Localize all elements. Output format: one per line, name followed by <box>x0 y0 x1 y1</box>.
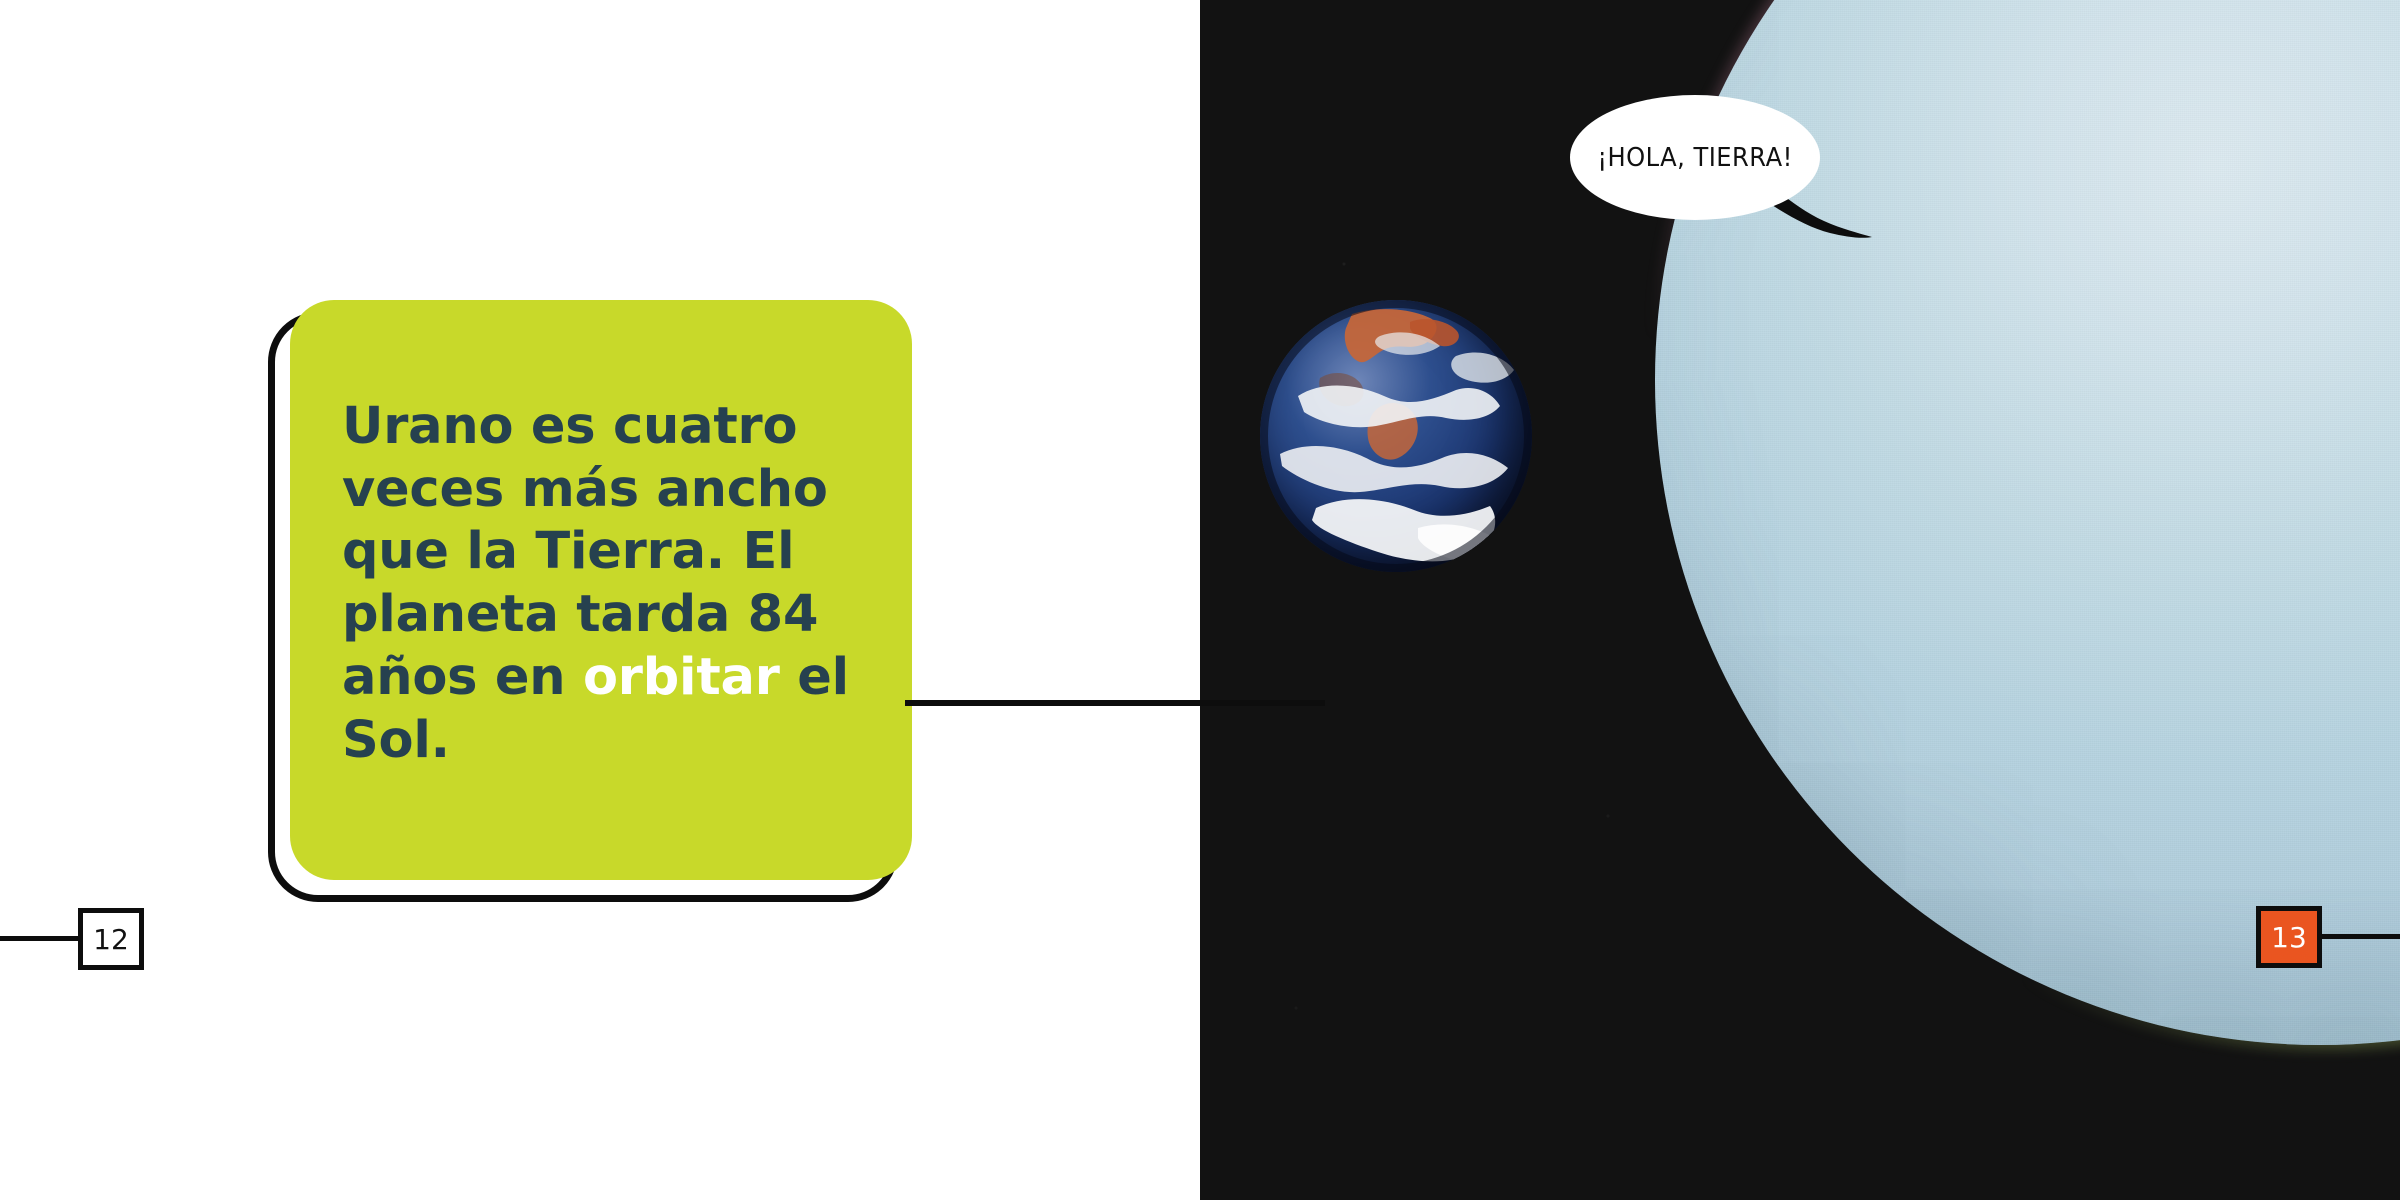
speech-bubble-text: ¡HOLA, TIERRA! <box>1597 143 1792 173</box>
right-page: ¡HOLA, TIERRA! <box>1200 0 2400 1200</box>
page-number-rule-right <box>2320 934 2400 939</box>
callout-box: Urano es cuatro veces más ancho que la T… <box>268 300 918 905</box>
speech-bubble-body: ¡HOLA, TIERRA! <box>1570 95 1820 220</box>
page-number-right: 13 <box>2256 906 2322 968</box>
earth-planet <box>1260 300 1532 572</box>
callout-fill: Urano es cuatro veces más ancho que la T… <box>290 300 912 880</box>
page-number-left: 12 <box>78 908 144 970</box>
callout-highlight-word: orbitar <box>583 648 780 707</box>
earth-body <box>1260 300 1532 572</box>
earth-surface-art <box>1260 300 1532 572</box>
page-number-rule-left <box>0 936 82 941</box>
callout-paragraph: Urano es cuatro veces más ancho que la T… <box>342 396 860 772</box>
speech-bubble: ¡HOLA, TIERRA! <box>1570 95 1860 250</box>
left-page: Urano es cuatro veces más ancho que la T… <box>0 0 1200 1200</box>
callout-leader-line <box>905 700 1325 706</box>
book-spread: Urano es cuatro veces más ancho que la T… <box>0 0 2400 1200</box>
